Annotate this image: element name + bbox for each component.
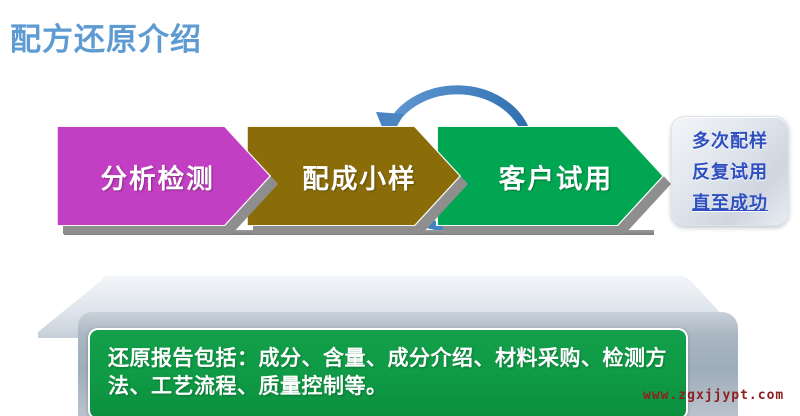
process-flow: 分析检测 配成小样 客户试用 — [56, 126, 666, 238]
step-label: 分析检测 — [100, 157, 214, 195]
watermark: www.zgxjjypt.com — [643, 388, 784, 403]
report-panel: 还原报告包括：成分、含量、成分介绍、材料采购、检测方法、工艺流程、质量控制等。 — [38, 276, 738, 416]
step-body[interactable]: 分析检测 — [58, 127, 270, 226]
report-card-text: 还原报告包括：成分、含量、成分介绍、材料采购、检测方法、工艺流程、质量控制等。 — [108, 344, 668, 401]
callout-line-3: 直至成功 — [692, 189, 768, 215]
callout-line-2: 反复试用 — [692, 158, 768, 184]
iteration-callout[interactable]: 多次配样 反复试用 直至成功 — [671, 116, 789, 226]
step-analysis[interactable]: 分析检测 — [56, 126, 271, 226]
slide-canvas: 配方还原介绍 — [0, 0, 800, 416]
step-trial[interactable]: 客户试用 — [436, 126, 664, 226]
step-label: 客户试用 — [499, 157, 613, 195]
step-sample[interactable]: 配成小样 — [246, 126, 461, 226]
report-card: 还原报告包括：成分、含量、成分介绍、材料采购、检测方法、工艺流程、质量控制等。 — [88, 328, 688, 416]
step-label: 配成小样 — [302, 157, 416, 195]
step-body[interactable]: 配成小样 — [248, 127, 460, 226]
page-title: 配方还原介绍 — [10, 14, 202, 59]
step-body[interactable]: 客户试用 — [438, 127, 663, 226]
callout-line-1: 多次配样 — [692, 127, 768, 153]
